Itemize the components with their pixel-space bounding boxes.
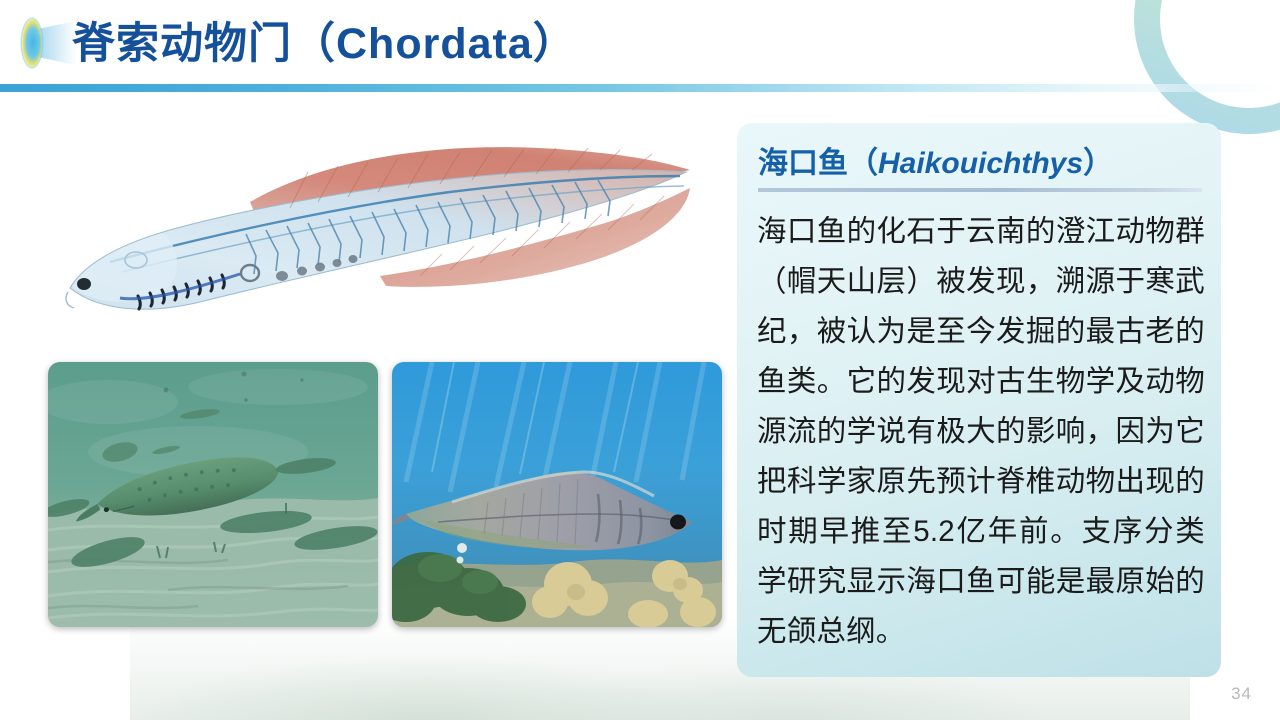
page-number: 34 xyxy=(1231,684,1252,704)
info-card: 海口鱼（Haikouichthys） 海口鱼的化石于云南的澄江动物群（帽天山层）… xyxy=(737,123,1221,677)
card-heading-close-paren: ） xyxy=(1083,147,1113,180)
page-title-latin: Chordata xyxy=(336,20,533,68)
page-title: 脊索动物门（Chordata） xyxy=(72,8,577,80)
card-heading-scientific-name: Haikouichthys xyxy=(878,147,1083,180)
card-heading-divider xyxy=(758,188,1202,192)
card-body-text: 海口鱼的化石于云南的澄江动物群（帽天山层）被发现，溯源于寒武纪，被认为是至今发掘… xyxy=(757,207,1205,657)
lens-eye-shape xyxy=(22,19,42,67)
lens-fan-icon xyxy=(10,19,64,67)
card-heading: 海口鱼（Haikouichthys） xyxy=(758,143,1202,185)
header-divider-bar xyxy=(0,84,1280,92)
underwater-blue-photo xyxy=(392,362,722,627)
card-heading-cn: 海口鱼 xyxy=(758,147,848,180)
card-heading-open-paren: （ xyxy=(848,147,878,180)
haikouichthys-illustration xyxy=(50,126,710,336)
page-title-cn: 脊索动物门（ xyxy=(72,20,336,68)
slide-root: 脊索动物门（Chordata） xyxy=(0,0,1280,720)
underwater-green-photo xyxy=(48,362,378,627)
page-title-close: ） xyxy=(533,20,577,68)
slide-header: 脊索动物门（Chordata） xyxy=(0,0,1280,92)
